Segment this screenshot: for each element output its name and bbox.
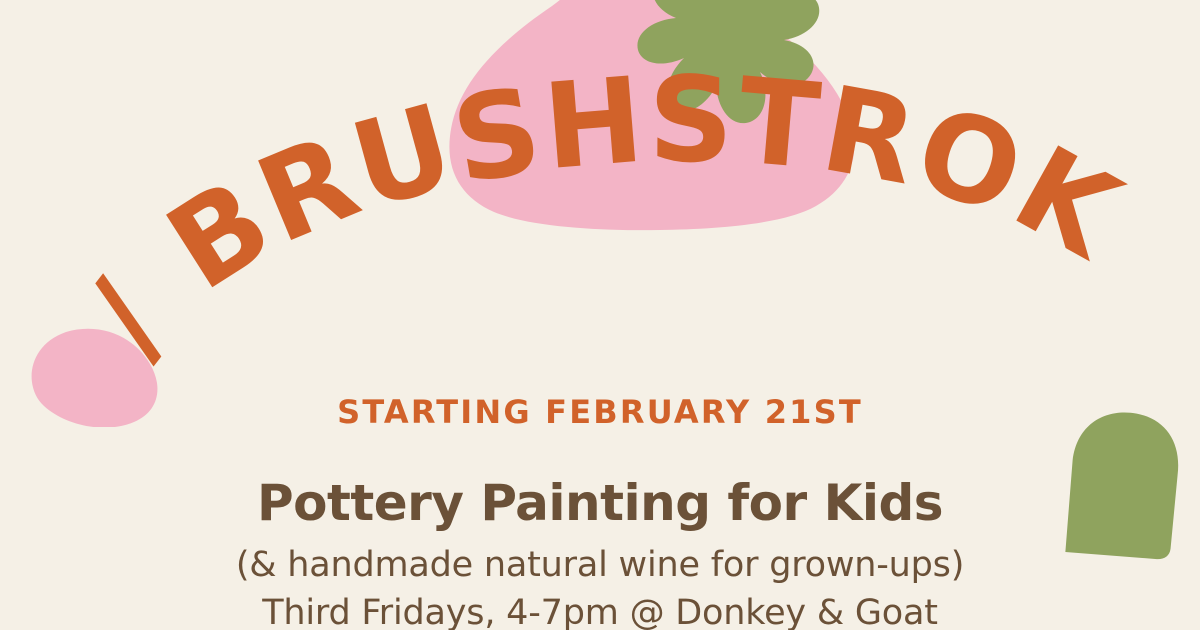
- pink-pottery-vase: [0, 0, 1200, 240]
- kicker-text: STARTING FEBRUARY 21ST: [0, 396, 1200, 430]
- page-title: Pottery Painting for Kids: [0, 476, 1200, 530]
- poster-text-block: STARTING FEBRUARY 21ST Pottery Painting …: [0, 396, 1200, 630]
- poster-canvas: W/ BRUSHSTROKES STARTING FEBRUARY 21ST P…: [0, 0, 1200, 630]
- subtitle-line-2: Third Fridays, 4-7pm @ Donkey & Goat: [0, 594, 1200, 630]
- subtitle-line-1: (& handmade natural wine for grown-ups): [0, 546, 1200, 585]
